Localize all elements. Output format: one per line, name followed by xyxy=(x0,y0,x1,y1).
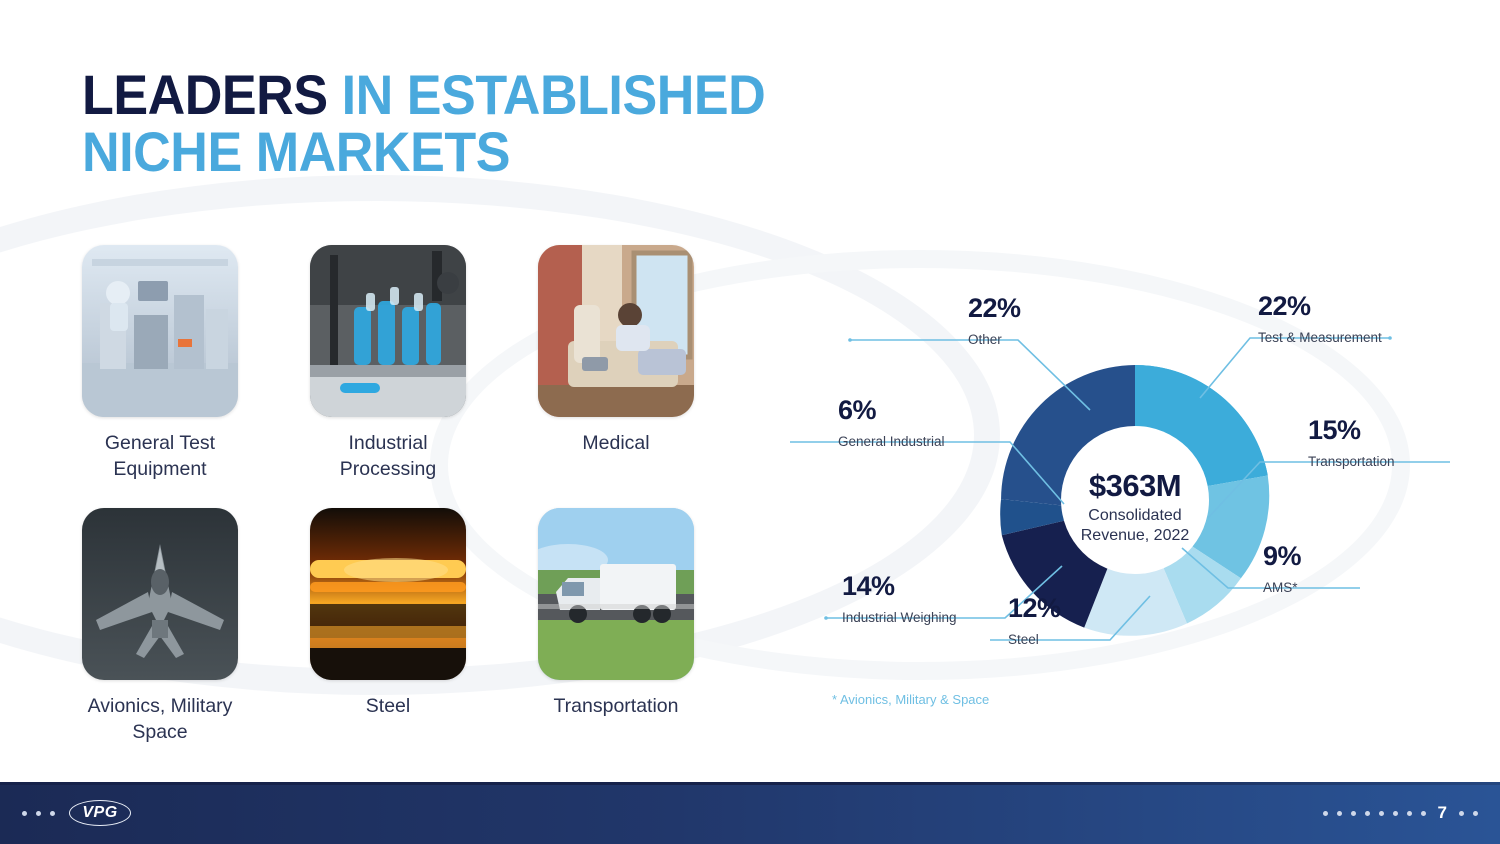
title-leaders: LEADERS xyxy=(82,63,328,126)
slide-footer: VPG 7 xyxy=(0,782,1500,844)
revenue-donut-chart: $363M Consolidated Revenue, 2022 22% Oth… xyxy=(790,290,1490,730)
callout-industrial-weighing: 14% Industrial Weighing xyxy=(842,573,957,626)
callout-ams-percent: 9% xyxy=(1263,543,1301,570)
page-title: LEADERS IN ESTABLISHED NICHE MARKETS xyxy=(82,66,817,180)
footer-left: VPG xyxy=(22,800,131,826)
market-card-industrial-processing[interactable]: Industrial Processing xyxy=(310,245,466,482)
chart-footnote: * Avionics, Military & Space xyxy=(832,692,989,707)
callout-other-name: Other xyxy=(968,332,1021,348)
markets-row-1: General Test Equipment xyxy=(82,245,742,482)
market-card-transportation[interactable]: Transportation xyxy=(538,508,694,745)
markets-grid: General Test Equipment xyxy=(82,245,742,746)
footer-dots-left xyxy=(22,811,55,816)
callout-other: 22% Other xyxy=(968,295,1021,348)
market-caption: Industrial Processing xyxy=(310,431,466,482)
title-in-established: IN ESTABLISHED xyxy=(342,63,766,126)
callout-test-measurement-name: Test & Measurement xyxy=(1258,330,1382,346)
callout-transportation: 15% Transportation xyxy=(1308,417,1395,470)
revenue-sub-line-2: Revenue, 2022 xyxy=(1035,527,1235,546)
callout-steel-percent: 12% xyxy=(1008,595,1061,622)
market-card-steel[interactable]: Steel xyxy=(310,508,466,745)
market-card-avionics-military-space[interactable]: Avionics, Military Space xyxy=(82,508,238,745)
market-caption: Transportation xyxy=(538,694,694,720)
callout-industrial-weighing-percent: 14% xyxy=(842,573,957,600)
page-number: 7 xyxy=(1438,803,1447,823)
callout-general-industrial-name: General Industrial xyxy=(838,434,945,450)
callout-industrial-weighing-name: Industrial Weighing xyxy=(842,610,957,626)
hospital-patient-bed-photo xyxy=(538,245,694,417)
bottling-line-photo xyxy=(310,245,466,417)
callout-transportation-name: Transportation xyxy=(1308,454,1395,470)
vpg-logo: VPG xyxy=(69,800,131,826)
callout-steel: 12% Steel xyxy=(1008,595,1061,648)
cleanroom-test-equipment-photo xyxy=(82,245,238,417)
revenue-sub-line-1: Consolidated xyxy=(1035,507,1235,526)
callout-steel-name: Steel xyxy=(1008,632,1061,648)
footer-right: 7 xyxy=(1323,803,1478,823)
callout-ams: 9% AMS* xyxy=(1263,543,1301,596)
semi-truck-photo xyxy=(538,508,694,680)
callout-general-industrial-percent: 6% xyxy=(838,397,945,424)
markets-row-2: Avionics, Military Space xyxy=(82,508,742,745)
callout-test-measurement-percent: 22% xyxy=(1258,293,1382,320)
footer-dots-after-page xyxy=(1459,811,1478,816)
callout-test-measurement: 22% Test & Measurement xyxy=(1258,293,1382,346)
donut-center-label: $363M Consolidated Revenue, 2022 xyxy=(1035,468,1235,546)
market-caption: General Test Equipment xyxy=(82,431,238,482)
revenue-amount: $363M xyxy=(1035,468,1235,505)
callout-ams-name: AMS* xyxy=(1263,580,1301,596)
market-caption: Avionics, Military Space xyxy=(82,694,238,745)
molten-steel-photo xyxy=(310,508,466,680)
footer-dots-before-page xyxy=(1323,811,1426,816)
callout-other-percent: 22% xyxy=(968,295,1021,322)
market-card-general-test-equipment[interactable]: General Test Equipment xyxy=(82,245,238,482)
market-card-medical[interactable]: Medical xyxy=(538,245,694,482)
callout-transportation-percent: 15% xyxy=(1308,417,1395,444)
slide-root: LEADERS IN ESTABLISHED NICHE MARKETS xyxy=(0,0,1500,844)
market-caption: Medical xyxy=(538,431,694,457)
market-caption: Steel xyxy=(310,694,466,720)
fighter-jet-photo xyxy=(82,508,238,680)
title-niche-markets: NICHE MARKETS xyxy=(82,120,510,183)
callout-general-industrial: 6% General Industrial xyxy=(838,397,945,450)
